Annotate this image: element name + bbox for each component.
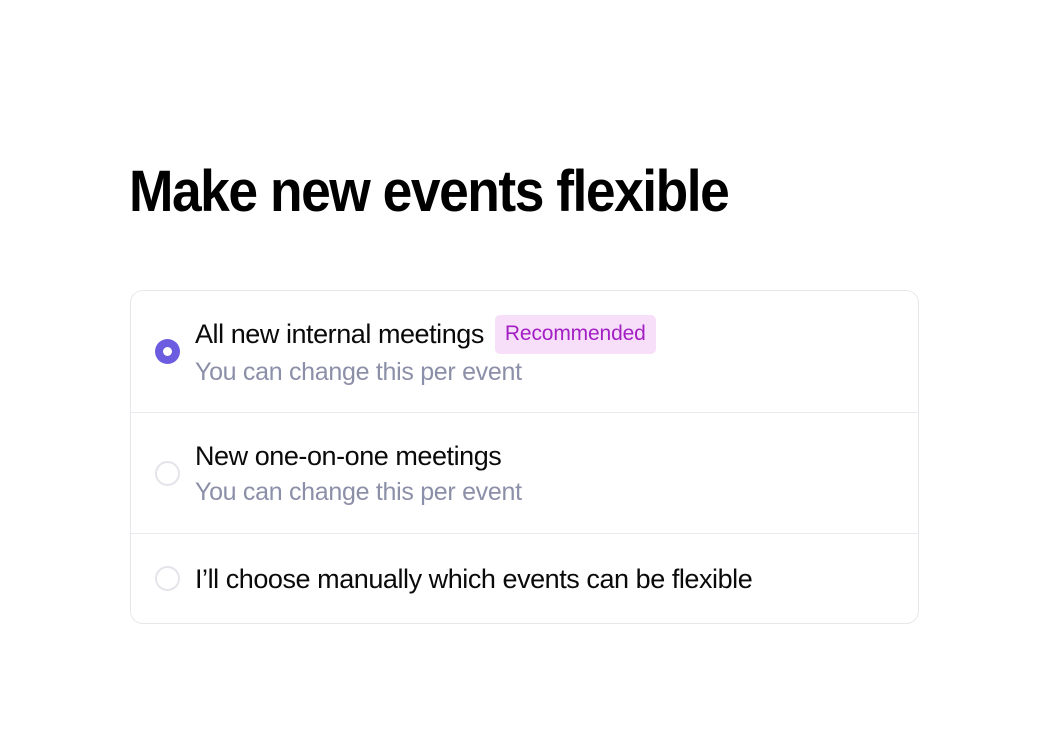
- option-subtitle: You can change this per event: [195, 356, 656, 389]
- option-label-line: I’ll choose manually which events can be…: [195, 561, 752, 597]
- options-card: All new internal meetings Recommended Yo…: [130, 290, 919, 624]
- option-label-line: New one-on-one meetings: [195, 438, 522, 474]
- option-label-line: All new internal meetings Recommended: [195, 315, 656, 354]
- radio-unselected-icon[interactable]: [155, 566, 180, 591]
- option-text: New one-on-one meetings You can change t…: [195, 438, 522, 509]
- recommended-badge: Recommended: [495, 315, 656, 354]
- option-label: New one-on-one meetings: [195, 438, 501, 474]
- radio-unselected-icon[interactable]: [155, 461, 180, 486]
- option-label: I’ll choose manually which events can be…: [195, 561, 752, 597]
- option-label: All new internal meetings: [195, 316, 484, 352]
- page-title: Make new events flexible: [129, 156, 728, 228]
- option-subtitle: You can change this per event: [195, 476, 522, 509]
- option-text: I’ll choose manually which events can be…: [195, 561, 752, 597]
- option-row-new-one-on-one-meetings[interactable]: New one-on-one meetings You can change t…: [131, 412, 918, 533]
- radio-selected-icon[interactable]: [155, 339, 180, 364]
- option-text: All new internal meetings Recommended Yo…: [195, 315, 656, 389]
- option-row-all-new-internal-meetings[interactable]: All new internal meetings Recommended Yo…: [131, 291, 918, 412]
- page-container: Make new events flexible All new interna…: [0, 0, 1049, 753]
- option-row-choose-manually[interactable]: I’ll choose manually which events can be…: [131, 533, 918, 623]
